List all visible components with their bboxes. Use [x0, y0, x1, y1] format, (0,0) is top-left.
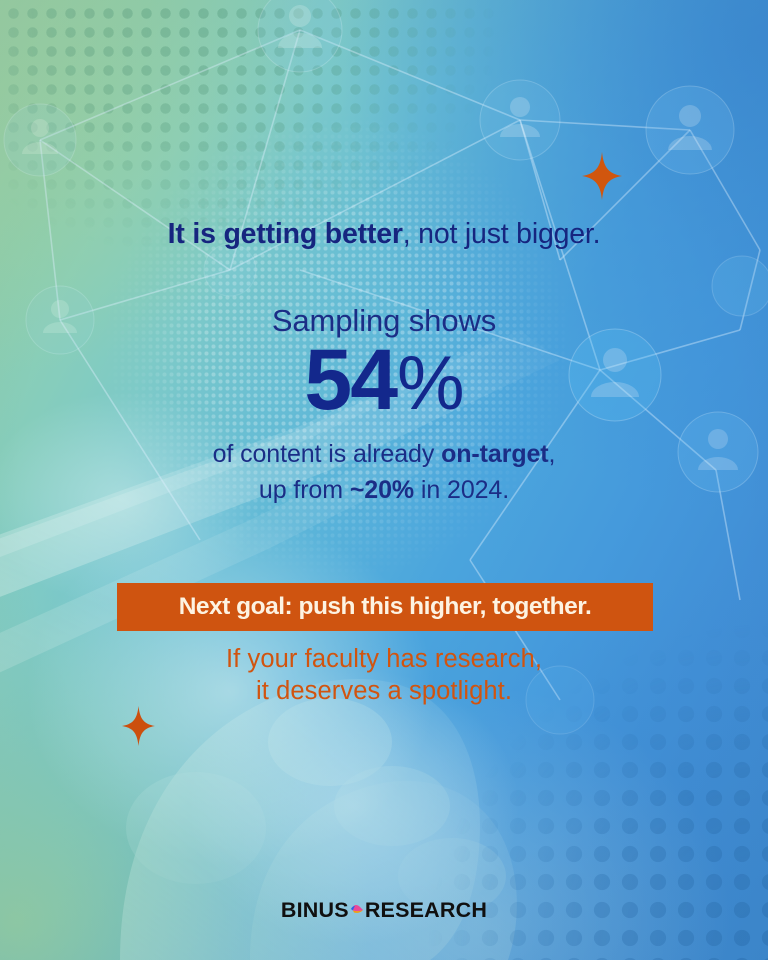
page-headline: It is getting better, not just bigger.: [0, 218, 768, 251]
stat-big-number: 54%: [0, 337, 768, 423]
poster-canvas: It is getting better, not just bigger. S…: [0, 0, 768, 960]
next-goal-banner: Next goal: push this higher, together.: [117, 583, 653, 631]
headline-light-part: , not just bigger.: [403, 218, 601, 250]
binus-swoosh-mark: [350, 898, 364, 923]
sparkle-icon: [582, 152, 622, 200]
stat-detail-line-2: up from ~20% in 2024.: [0, 476, 768, 505]
stat-percent-symbol: %: [397, 341, 464, 426]
stat-detail-1-emphasis: on-target: [441, 440, 548, 468]
stat-detail-line-1: of content is already on-target,: [0, 440, 768, 469]
cta-line-1: If your faculty has research,: [0, 645, 768, 674]
stat-number-value: 54: [304, 332, 396, 428]
headline-bold-part: It is getting better: [168, 218, 403, 250]
stat-detail-1-post: ,: [549, 440, 556, 468]
stat-detail-2-pre: up from: [259, 476, 350, 504]
logo-word-binus: BINUS: [281, 898, 349, 923]
cta-line-2: it deserves a spotlight.: [0, 677, 768, 706]
sparkle-icon: [122, 706, 155, 746]
stat-detail-2-post: in 2024.: [414, 476, 509, 504]
binus-research-logo: BINUS RESEARCH: [0, 898, 768, 923]
logo-word-research: RESEARCH: [365, 898, 487, 923]
stat-detail-2-emphasis: ~20%: [350, 476, 414, 504]
next-goal-banner-text: Next goal: push this higher, together.: [179, 593, 592, 621]
stat-detail-1-pre: of content is already: [213, 440, 442, 468]
